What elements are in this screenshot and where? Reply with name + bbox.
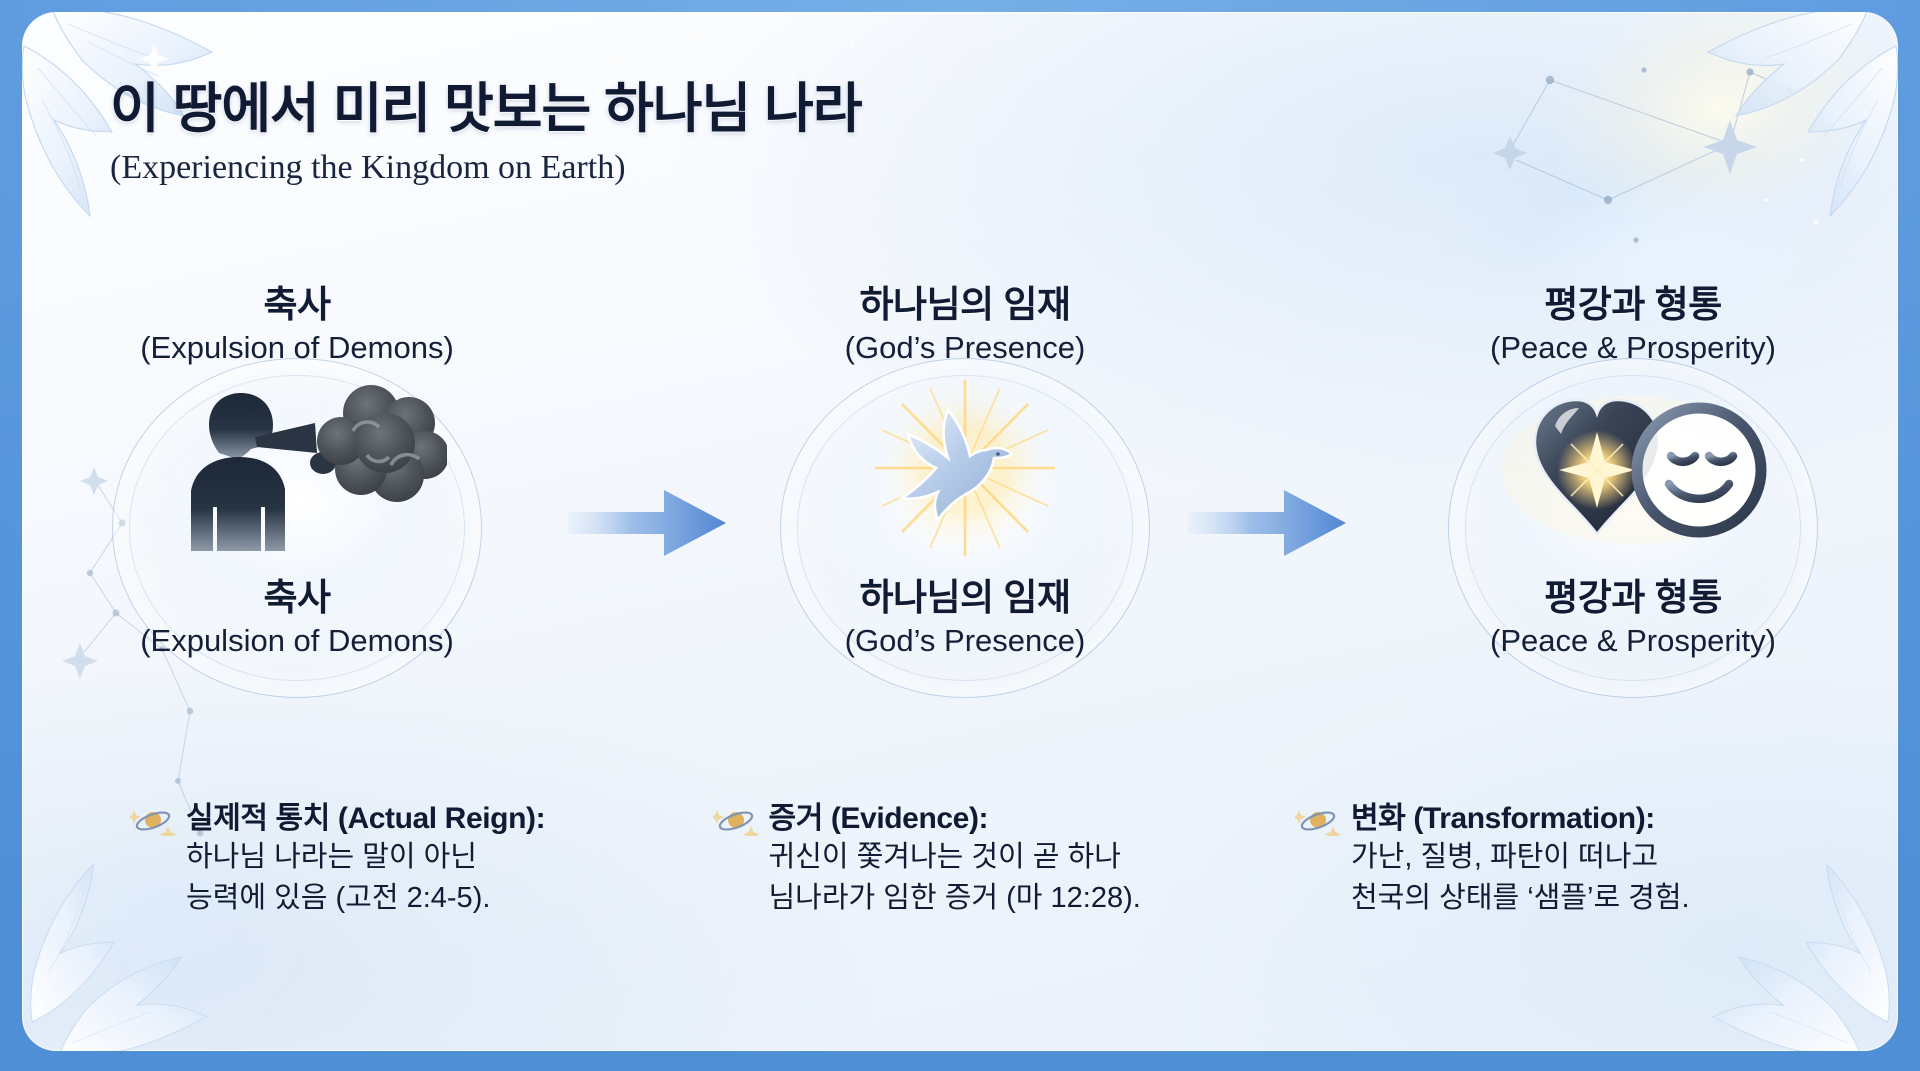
bullet-line-2: 천국의 상태를 ‘샘플’로 경험. <box>1351 878 1840 919</box>
stage-gods-presence: 하나님의 임재 (God’s Presence) <box>750 274 1180 659</box>
bullet-transformation: 변화 (Transformation): 가난, 질병, 파탄이 떠나고 천국의… <box>1295 802 1840 919</box>
page-title-english: (Experiencing the Kingdom on Earth) <box>110 149 862 187</box>
stage-bottom-labels: 하나님의 임재 (God’s Presence) <box>750 567 1180 659</box>
bullet-heading: 실제적 통치 (Actual Reign): <box>186 802 675 837</box>
stage-bottom-label-korean: 하나님의 임재 <box>750 567 1180 621</box>
sparkling-heart-with-smiling-face-icon <box>1493 386 1773 551</box>
bullet-line-2: 님나라가 임한 증거 (마 12:28). <box>769 878 1258 919</box>
slide-frame: 이 땅에서 미리 맛보는 하나님 나라 (Experiencing the Ki… <box>0 0 1920 1071</box>
bullet-line-1: 하나님 나라는 말이 아닌 <box>186 837 675 878</box>
stage-bottom-labels: 축사 (Expulsion of Demons) <box>82 567 512 659</box>
stage-flow: 축사 (Expulsion of Demons) <box>82 274 1848 734</box>
stage-bottom-label-english: (God’s Presence) <box>750 623 1180 659</box>
ringed-planet-icon <box>713 806 759 836</box>
bullet-evidence: 증거 (Evidence): 귀신이 쫓겨나는 것이 곧 하나 님나라가 임한 … <box>713 802 1258 919</box>
stage-bottom-label-english: (Expulsion of Demons) <box>82 623 512 659</box>
page-title-korean: 이 땅에서 미리 맛보는 하나님 나라 <box>110 64 862 143</box>
angel-wing-top-right-icon <box>1654 12 1898 282</box>
bullet-actual-reign: 실제적 통치 (Actual Reign): 하나님 나라는 말이 아닌 능력에… <box>130 802 675 919</box>
bullet-line-2: 능력에 있음 (고전 2:4-5). <box>186 878 675 919</box>
stage-artwork <box>82 376 512 561</box>
stage-bottom-labels: 평강과 형통 (Peace & Prosperity) <box>1418 567 1848 659</box>
bullet-heading: 증거 (Evidence): <box>769 802 1258 837</box>
slide-card: 이 땅에서 미리 맛보는 하나님 나라 (Experiencing the Ki… <box>22 12 1898 1051</box>
stage-artwork <box>1418 376 1848 561</box>
bullet-line-1: 귀신이 쫓겨나는 것이 곧 하나 <box>769 837 1258 878</box>
stage-bottom-label-korean: 축사 <box>82 567 512 621</box>
ringed-planet-icon <box>130 806 176 836</box>
stage-expulsion-of-demons: 축사 (Expulsion of Demons) <box>82 274 512 659</box>
stage-artwork <box>750 376 1180 561</box>
stage-peace-and-prosperity: 평강과 형통 (Peace & Prosperity) <box>1418 274 1848 659</box>
stage-bottom-label-korean: 평강과 형통 <box>1418 567 1848 621</box>
bullet-heading: 변화 (Transformation): <box>1351 802 1840 837</box>
stage-top-label-english: (Peace & Prosperity) <box>1418 330 1848 366</box>
bullet-row: 실제적 통치 (Actual Reign): 하나님 나라는 말이 아닌 능력에… <box>130 802 1840 919</box>
stage-top-label-korean: 축사 <box>82 274 512 328</box>
stage-top-label-korean: 평강과 형통 <box>1418 274 1848 328</box>
ringed-planet-icon <box>1295 806 1341 836</box>
bullet-line-1: 가난, 질병, 파탄이 떠나고 <box>1351 837 1840 878</box>
stage-top-label-english: (Expulsion of Demons) <box>82 330 512 366</box>
radiant-dove-icon <box>830 376 1100 561</box>
stage-top-label-english: (God’s Presence) <box>750 330 1180 366</box>
stage-bottom-label-english: (Peace & Prosperity) <box>1418 623 1848 659</box>
slide-header: 이 땅에서 미리 맛보는 하나님 나라 (Experiencing the Ki… <box>110 64 862 187</box>
stage-top-label-korean: 하나님의 임재 <box>750 274 1180 328</box>
person-exhaling-dark-smoke-icon <box>147 379 447 559</box>
